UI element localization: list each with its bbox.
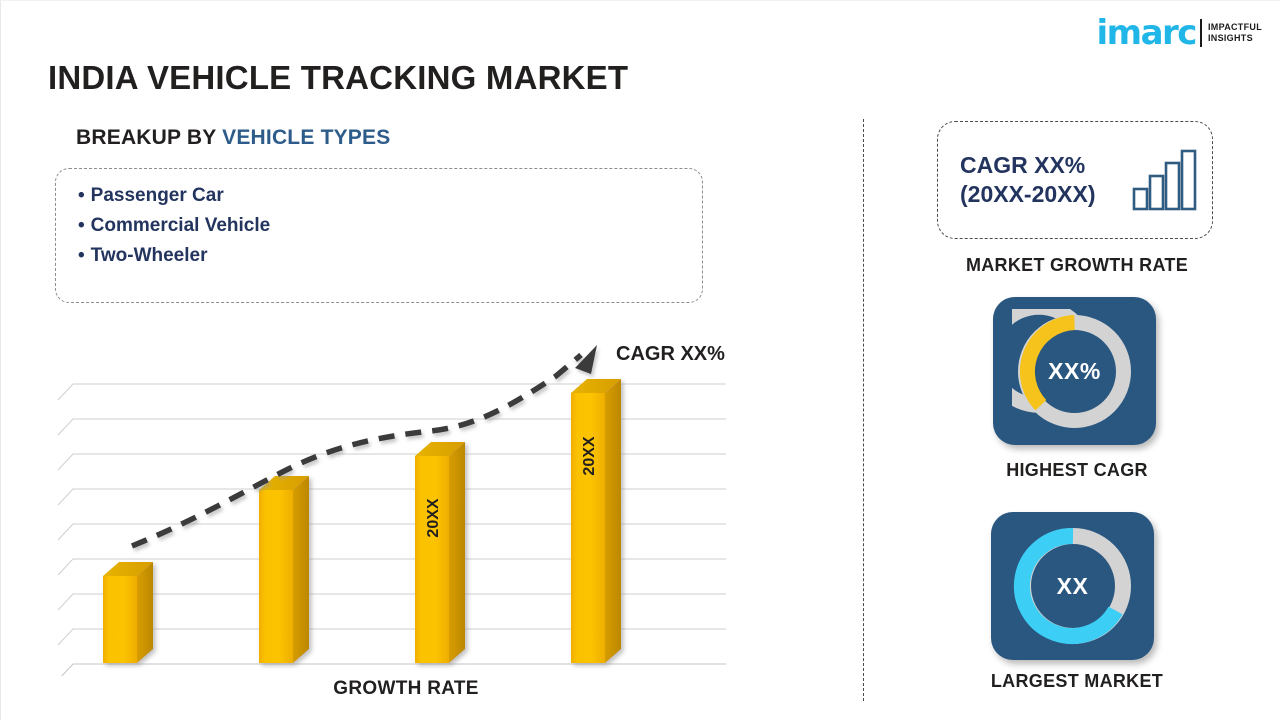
bullet-dot-icon: • — [78, 185, 85, 206]
ascending-bars-icon — [1132, 149, 1198, 211]
bullet-dot-icon: • — [78, 245, 85, 266]
logo-tagline-line2: INSIGHTS — [1208, 33, 1262, 44]
growth-rate-line2: (20XX-20XX) — [960, 180, 1132, 209]
chart-x-axis-label: GROWTH RATE — [56, 678, 756, 700]
page-title: INDIA VEHICLE TRACKING MARKET — [48, 59, 628, 97]
bar-column — [415, 442, 465, 663]
market-growth-rate-box: CAGR XX% (20XX-20XX) — [937, 121, 1213, 239]
logo-tagline-line1: IMPACTFUL — [1208, 22, 1262, 33]
bar-column — [103, 562, 153, 663]
bar-value-label: 20XX — [581, 436, 598, 475]
bullet-dot-icon: • — [78, 215, 85, 236]
largest-market-tile: XX — [991, 512, 1154, 660]
highest-cagr-label: HIGHEST CAGR — [897, 460, 1257, 481]
list-item-label: Two-Wheeler — [91, 245, 208, 266]
growth-rate-line1: CAGR XX% — [960, 151, 1132, 180]
imarc-logo: imarc IMPACTFUL INSIGHTS — [1097, 13, 1262, 53]
growth-rate-chart: 20XX 20XX CAGR XX% GROWTH RATE — [56, 331, 756, 691]
subtitle-accent: VEHICLE TYPES — [222, 126, 390, 149]
subtitle-prefix: BREAKUP BY — [76, 126, 222, 149]
list-item-label: Passenger Car — [91, 185, 224, 206]
highest-cagr-tile: XX% — [993, 297, 1156, 445]
largest-market-value: XX — [1057, 573, 1089, 600]
bar-column — [571, 379, 621, 663]
list-item-label: Commercial Vehicle — [91, 215, 271, 236]
market-growth-rate-label: MARKET GROWTH RATE — [897, 255, 1257, 276]
growth-rate-text: CAGR XX% (20XX-20XX) — [960, 151, 1132, 209]
largest-market-label: LARGEST MARKET — [897, 671, 1257, 692]
chart-svg: 20XX 20XX — [56, 331, 756, 676]
logo-wordmark: imarc — [1097, 16, 1196, 50]
infographic-page: imarc IMPACTFUL INSIGHTS INDIA VEHICLE T… — [0, 0, 1280, 720]
trend-line — [132, 345, 597, 546]
logo-tagline: IMPACTFUL INSIGHTS — [1208, 22, 1262, 45]
list-item: •Two-Wheeler — [78, 241, 702, 271]
list-item: •Commercial Vehicle — [78, 211, 702, 241]
section-subtitle: BREAKUP BY VEHICLE TYPES — [76, 126, 390, 150]
chart-gridlines — [58, 384, 726, 676]
bar-column — [259, 476, 309, 663]
vehicle-types-box: •Passenger Car •Commercial Vehicle •Two-… — [55, 168, 703, 303]
list-item: •Passenger Car — [78, 181, 702, 211]
vertical-divider — [863, 119, 864, 701]
highest-cagr-value: XX% — [1048, 358, 1101, 385]
logo-divider — [1200, 19, 1202, 47]
cagr-callout-label: CAGR XX% — [616, 343, 725, 366]
bar-value-label: 20XX — [425, 498, 442, 537]
